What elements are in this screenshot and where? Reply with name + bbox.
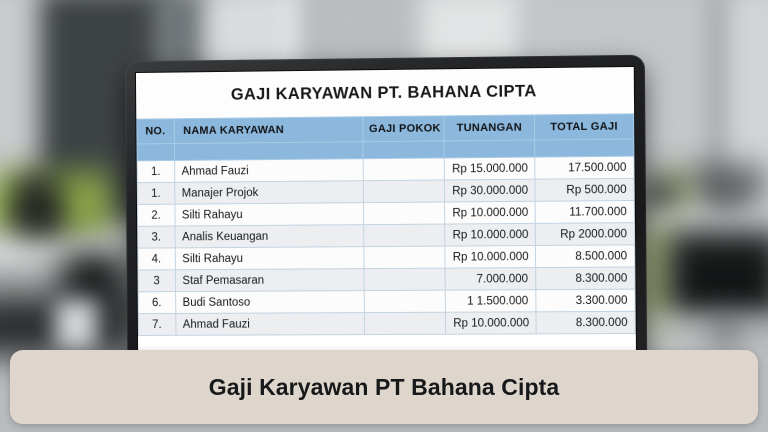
column-header-nama[interactable]: NAMA KARYAWAN [174,117,363,144]
spreadsheet: GAJI KARYAWAN PT. BAHANA CIPTA NO. NAMA … [136,67,636,359]
page-title: GAJI KARYAWAN PT. BAHANA CIPTA [136,67,634,119]
bg-monitor [20,185,60,243]
cell-total-gaji[interactable]: 17.500.000 [535,156,634,179]
cell-tunangan[interactable]: Rp 10.000.000 [445,245,535,268]
cell-no[interactable]: 7. [138,313,175,335]
cell-total-gaji[interactable]: 11.700.000 [535,200,634,223]
caption-text: Gaji Karyawan PT Bahana Cipta [209,374,560,401]
cell-nama[interactable]: Ahmad Fauzi [174,159,363,183]
cell-tunangan[interactable]: Rp 10.000.000 [445,223,535,246]
cell-no[interactable]: 6. [138,292,175,314]
bg-monitor [690,168,765,192]
cell-nama[interactable]: Staf Pemasaran [175,269,364,292]
cell-no[interactable]: 4. [138,248,175,270]
cell-tunangan[interactable]: Rp 30.000.000 [445,179,535,202]
table-row[interactable]: 3Staf Pemasaran7.000.0008.300.000 [138,267,635,292]
cell-gaji-pokok[interactable] [363,246,445,269]
bg-box [55,300,97,350]
table-header: NO. NAMA KARYAWAN GAJI POKOK TUNANGAN TO… [137,114,634,161]
spacer-cell [137,144,174,161]
cell-total-gaji[interactable]: 3.300.000 [536,289,635,312]
cell-gaji-pokok[interactable] [364,290,446,312]
table-row[interactable]: 6.Budi Santoso1 1.500.0003.300.000 [138,289,635,313]
column-header-gaji-pokok[interactable]: GAJI POKOK [362,116,444,142]
cell-gaji-pokok[interactable] [363,158,445,181]
cell-tunangan[interactable]: Rp 10.000.000 [446,312,536,334]
cell-tunangan[interactable]: 7.000.000 [445,268,535,291]
cell-gaji-pokok[interactable] [363,202,445,225]
laptop-screen: GAJI KARYAWAN PT. BAHANA CIPTA NO. NAMA … [136,67,636,359]
bg-monitor [706,192,754,214]
caption-bar: Gaji Karyawan PT Bahana Cipta [10,350,758,424]
bg-monitor-large [668,232,768,322]
bg-monitor-stand [718,318,734,346]
cell-no[interactable]: 2. [137,204,174,226]
cell-gaji-pokok[interactable] [364,268,446,290]
cell-no[interactable]: 3 [138,270,175,292]
cell-total-gaji[interactable]: Rp 2000.000 [535,223,634,246]
cell-gaji-pokok[interactable] [363,224,445,247]
bg-green-panel [52,172,112,240]
cell-tunangan[interactable]: Rp 10.000.000 [445,201,535,224]
table-row[interactable]: 3.Analis KeuanganRp 10.000.000Rp 2000.00… [138,223,635,248]
cell-total-gaji[interactable]: 8.500.000 [535,245,634,268]
cell-total-gaji[interactable]: 8.300.000 [536,311,635,334]
spacer-cell [444,140,534,158]
cell-nama[interactable]: Silti Rahayu [174,203,363,226]
cell-nama[interactable]: Analis Keuangan [175,225,364,248]
table-row[interactable]: 7.Ahmad FauziRp 10.000.0008.300.000 [138,311,635,335]
salary-table: NO. NAMA KARYAWAN GAJI POKOK TUNANGAN TO… [136,113,636,336]
cell-tunangan[interactable]: Rp 15.000.000 [444,157,534,180]
bg-desk [640,320,768,342]
column-header-total-gaji[interactable]: TOTAL GAJI [534,114,633,140]
cell-total-gaji[interactable]: 8.300.000 [536,267,635,290]
cell-gaji-pokok[interactable] [364,312,446,334]
table-row[interactable]: 4.Silti RahayuRp 10.000.0008.500.000 [138,245,635,270]
cell-nama[interactable]: Silti Rahayu [175,247,364,270]
cell-gaji-pokok[interactable] [363,180,445,203]
spacer-cell [535,139,634,157]
cell-no[interactable]: 1. [137,182,174,204]
cell-tunangan[interactable]: 1 1.500.000 [445,290,535,313]
spacer-cell [363,141,445,159]
cell-no[interactable]: 3. [138,226,175,248]
column-header-tunangan[interactable]: TUNANGAN [444,115,535,141]
laptop-frame: GAJI KARYAWAN PT. BAHANA CIPTA NO. NAMA … [125,55,647,359]
cell-no[interactable]: 1. [137,160,174,182]
column-header-no[interactable]: NO. [137,119,174,144]
cell-nama[interactable]: Manajer Projok [174,181,363,204]
cell-nama[interactable]: Budi Santoso [175,291,364,314]
cell-nama[interactable]: Ahmad Fauzi [175,313,364,336]
cell-total-gaji[interactable]: Rp 500.000 [535,178,634,201]
spacer-cell [174,142,363,161]
table-body: 1.Ahmad FauziRp 15.000.00017.500.0001.Ma… [137,156,635,335]
